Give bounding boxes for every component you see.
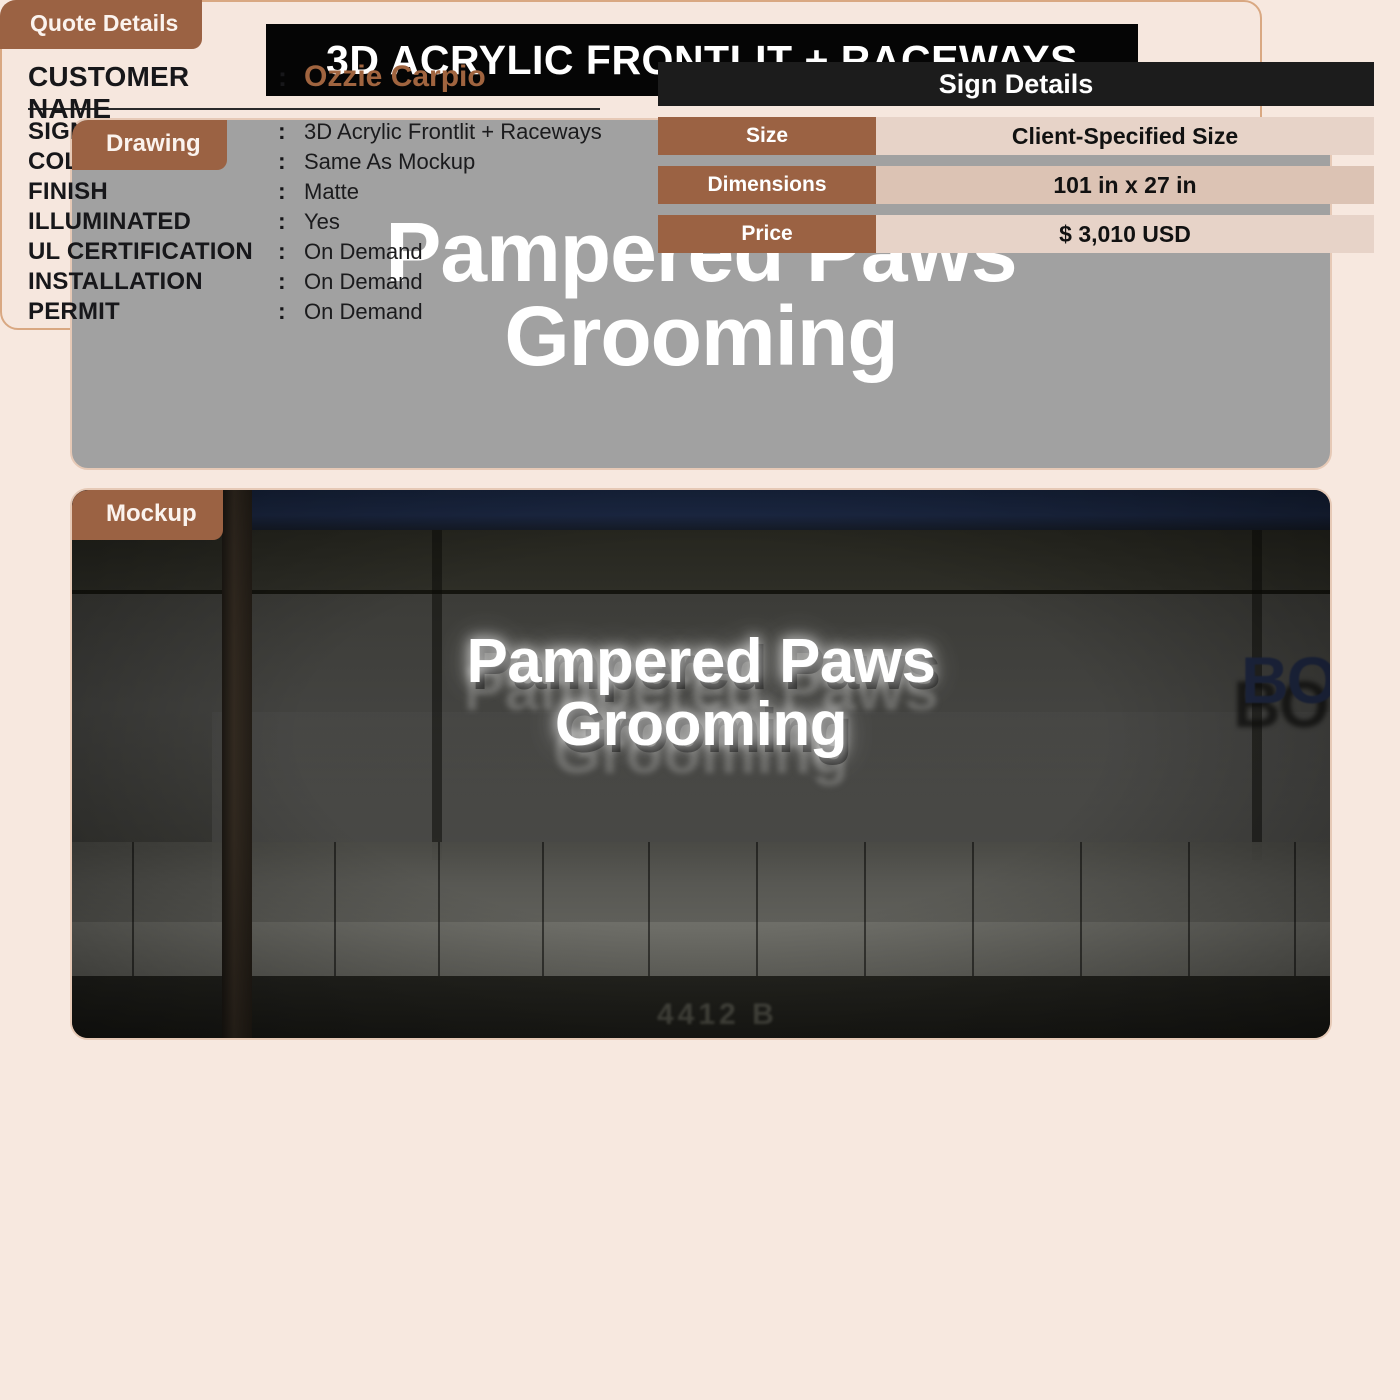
sign-details-row-price: Price $ 3,010 USD <box>658 215 1374 253</box>
sign-details-key-price: Price <box>658 215 876 253</box>
spec-label-ul-certification: UL CERTIFICATION <box>28 238 278 266</box>
mockup-sign-artwork: Pampered Paws Grooming <box>72 630 1330 756</box>
spec-label-permit: PERMIT <box>28 298 278 326</box>
mockup-badge: Mockup <box>72 490 223 540</box>
spec-colon-ul-certification: : <box>278 238 304 265</box>
spec-row-illuminated: ILLUMINATED : Yes <box>28 208 640 238</box>
spec-row-ul-certification: UL CERTIFICATION : On Demand <box>28 238 640 268</box>
mockup-sign-line-2: Grooming <box>555 693 847 756</box>
drawing-badge: Drawing <box>72 120 227 170</box>
spec-value-permit: On Demand <box>304 299 423 325</box>
customer-name-row: CUSTOMER NAME : Ozzie Carpio <box>28 60 640 104</box>
spec-value-color: Same As Mockup <box>304 149 475 175</box>
sign-details-value-size: Client-Specified Size <box>876 117 1374 155</box>
neighbor-sign-text: BO <box>1241 642 1330 718</box>
spec-row-permit: PERMIT : On Demand <box>28 298 640 328</box>
spec-row-finish: FINISH : Matte <box>28 178 640 208</box>
spec-label-illuminated: ILLUMINATED <box>28 208 278 236</box>
mockup-sign-line-1: Pampered Paws <box>466 630 935 693</box>
spec-colon-sign-type: : <box>278 118 304 145</box>
spec-value-illuminated: Yes <box>304 209 340 235</box>
sign-details-value-dimensions: 101 in x 27 in <box>876 166 1374 204</box>
spec-colon-illuminated: : <box>278 208 304 235</box>
customer-name-value: Ozzie Carpio <box>304 60 486 94</box>
spec-label-installation: INSTALLATION <box>28 268 278 296</box>
quote-details-badge: Quote Details <box>0 0 202 49</box>
spec-colon-finish: : <box>278 178 304 205</box>
spec-value-finish: Matte <box>304 179 359 205</box>
spec-colon-installation: : <box>278 268 304 295</box>
spec-label-finish: FINISH <box>28 178 278 206</box>
spec-value-sign-type: 3D Acrylic Frontlit + Raceways <box>304 119 602 145</box>
sign-details-value-price: $ 3,010 USD <box>876 215 1374 253</box>
sign-details-key-dimensions: Dimensions <box>658 166 876 204</box>
sign-details-row-size: Size Client-Specified Size <box>658 117 1374 155</box>
customer-name-colon: : <box>278 62 304 93</box>
sign-details-row-dimensions: Dimensions 101 in x 27 in <box>658 166 1374 204</box>
spec-value-installation: On Demand <box>304 269 423 295</box>
spec-value-ul-certification: On Demand <box>304 239 423 265</box>
sign-details-key-size: Size <box>658 117 876 155</box>
sign-details-header: Sign Details <box>658 62 1374 106</box>
spec-colon-color: : <box>278 148 304 175</box>
customer-name-label: CUSTOMER NAME <box>28 61 278 125</box>
spec-colon-permit: : <box>278 298 304 325</box>
spec-row-installation: INSTALLATION : On Demand <box>28 268 640 298</box>
